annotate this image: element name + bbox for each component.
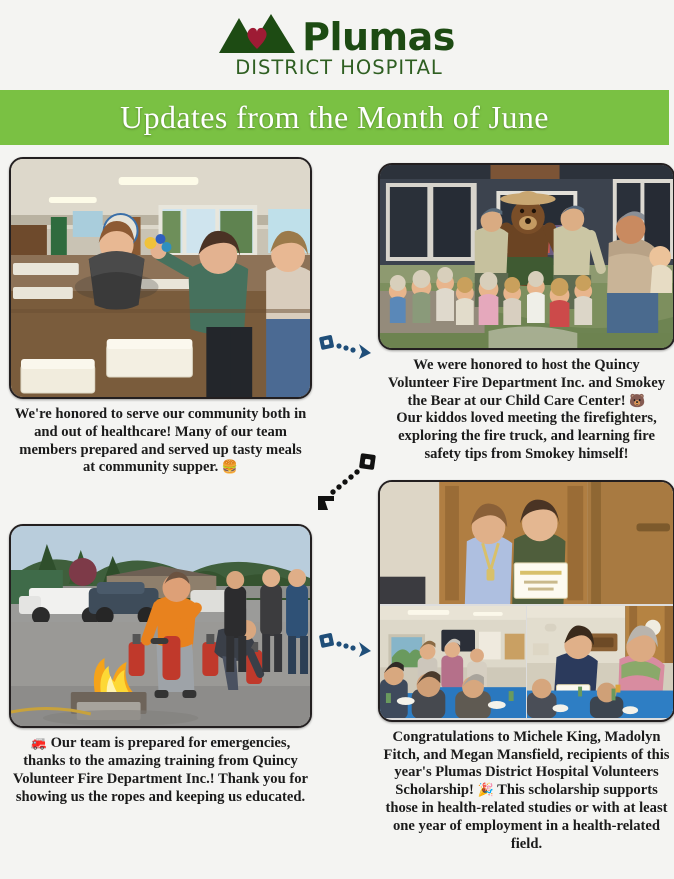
panel-fire-training: 🚒 Our team is prepared for emergencies, … bbox=[9, 524, 312, 806]
left-column: We're honored to serve our community bot… bbox=[9, 157, 312, 853]
party-popper-emoji: 🎉 bbox=[478, 783, 494, 798]
caption-text: We're honored to serve our community bot… bbox=[15, 406, 306, 475]
panel-scholarship: Congratulations to Michele King, Madolyn… bbox=[378, 480, 674, 854]
caption-community-supper: We're honored to serve our community bot… bbox=[9, 399, 312, 477]
caption-fire-training: 🚒 Our team is prepared for emergencies, … bbox=[9, 728, 312, 806]
brand-name: Plumas bbox=[302, 20, 455, 55]
logo-block: Plumas DISTRICT HOSPITAL bbox=[219, 13, 455, 79]
collage-photo-luncheon-left bbox=[380, 606, 527, 720]
smokey-bear-child-care-photo[interactable] bbox=[378, 163, 674, 350]
fire-engine-emoji: 🚒 bbox=[31, 736, 47, 751]
caption-text-part1: We were honored to host the Quincy Volun… bbox=[388, 357, 665, 409]
caption-smokey-bear: We were honored to host the Quincy Volun… bbox=[378, 350, 674, 464]
community-supper-photo[interactable] bbox=[9, 157, 312, 399]
fire-extinguisher-training-photo[interactable] bbox=[9, 524, 312, 728]
arrow-smokey-to-training-icon bbox=[314, 452, 380, 514]
bear-emoji: 🐻 bbox=[629, 394, 645, 409]
right-column: We were honored to host the Quincy Volun… bbox=[378, 157, 674, 853]
brand-subtitle: DISTRICT HOSPITAL bbox=[235, 56, 443, 79]
volunteers-scholarship-collage[interactable] bbox=[378, 480, 674, 722]
arrow-column bbox=[312, 157, 378, 853]
caption-scholarship: Congratulations to Michele King, Madolyn… bbox=[378, 722, 674, 854]
caption-text: Our team is prepared for emergencies, th… bbox=[13, 735, 308, 804]
banner-title: Updates from the Month of June bbox=[120, 99, 549, 136]
arrow-supper-to-smokey-icon bbox=[317, 329, 373, 369]
newsletter-body: We're honored to serve our community bot… bbox=[0, 145, 674, 853]
arrow-training-to-scholarship-icon bbox=[317, 627, 373, 667]
panel-smokey-bear: We were honored to host the Quincy Volun… bbox=[378, 163, 674, 464]
month-banner: Updates from the Month of June bbox=[0, 90, 669, 145]
collage-photo-award bbox=[380, 482, 673, 606]
page-header: Plumas DISTRICT HOSPITAL bbox=[0, 0, 674, 90]
caption-text-part2: Our kiddos loved meeting the firefighter… bbox=[396, 410, 657, 462]
collage-photo-luncheon-right bbox=[527, 606, 674, 720]
hamburger-emoji: 🍔 bbox=[222, 460, 238, 475]
mountain-heart-icon bbox=[219, 13, 295, 55]
panel-community-supper: We're honored to serve our community bot… bbox=[9, 157, 312, 477]
newsletter-page: Plumas DISTRICT HOSPITAL Updates from th… bbox=[0, 0, 674, 879]
